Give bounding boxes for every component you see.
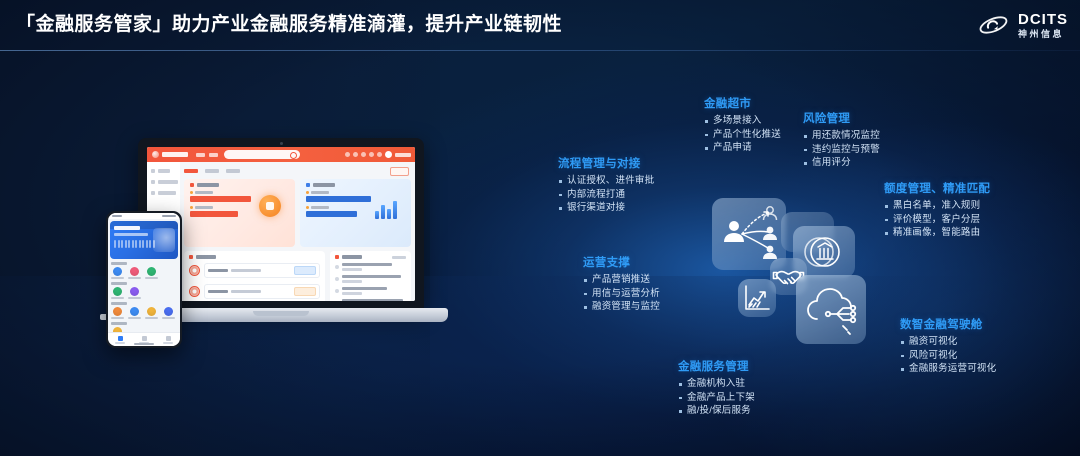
list-item[interactable]: [335, 299, 406, 301]
list-item[interactable]: [335, 263, 406, 271]
app-icon[interactable]: [128, 287, 141, 299]
block-flow: 流程管理与对接 认证授权、进件审批 内部流程打通 银行渠道对接: [558, 155, 654, 215]
list-item: 用信与运营分析: [583, 287, 660, 301]
list-item: 金融产品上下架: [678, 391, 755, 405]
phone-icon-row[interactable]: [111, 287, 177, 299]
step-node-icon: [189, 265, 200, 276]
sidebar-item[interactable]: [151, 180, 180, 184]
list-item: 多场景接入: [704, 114, 781, 128]
list-item: 融资管理与监控: [583, 300, 660, 314]
step-card[interactable]: [204, 263, 320, 278]
stat-card-financing: [184, 179, 295, 247]
sidebar-item-icon: [151, 180, 155, 184]
block-list: 多场景接入 产品个性化推送 产品申请: [704, 114, 781, 155]
kpi-value: [306, 196, 371, 202]
stat-card-title: [306, 183, 405, 187]
list-item: 精准画像，智能路由: [884, 226, 990, 240]
news-panel: [330, 251, 411, 301]
phone-icon-group: [111, 302, 177, 319]
block-title: 金融服务管理: [678, 358, 755, 374]
table-row[interactable]: [189, 284, 320, 299]
sidebar-item-label: [158, 180, 178, 184]
sidebar-item-label: [158, 191, 176, 195]
app-icon[interactable]: [162, 307, 175, 319]
block-market: 金融超市 多场景接入 产品个性化推送 产品申请: [704, 95, 781, 155]
dashboard-topbar: [147, 147, 415, 162]
growth-chart-icon: [738, 279, 776, 317]
step-node-icon: [189, 286, 200, 297]
phone-icon-group: [111, 282, 177, 299]
laptop-camera-icon: [280, 142, 283, 145]
dashboard-brand-icon: [152, 151, 159, 158]
kpi-value: [190, 211, 238, 217]
sidebar-item[interactable]: [151, 169, 180, 173]
sidebar-item-label: [158, 169, 170, 173]
block-list: 用还款情况监控 违约监控与预警 信用评分: [803, 129, 880, 170]
avatar[interactable]: [385, 151, 392, 158]
tab-overview[interactable]: [184, 169, 198, 173]
tab-third[interactable]: [226, 169, 240, 173]
kpi-label: [306, 191, 405, 194]
phone-banner: [110, 221, 178, 259]
list-item: 风险可视化: [900, 349, 996, 363]
bullet-icon: [335, 277, 339, 281]
laptop-notch: [253, 311, 309, 316]
medal-badge-icon: [259, 195, 281, 217]
list-item[interactable]: [335, 275, 406, 283]
kpi-value: [306, 211, 357, 217]
block-title: 风险管理: [803, 110, 880, 126]
stat-card-icon: [306, 183, 310, 187]
nav-item-home[interactable]: [115, 336, 125, 344]
dashboard-menu-item[interactable]: [196, 153, 205, 157]
block-cockpit: 数智金融驾驶舱 融资可视化 风险可视化 金融服务运营可视化: [900, 316, 996, 376]
bullet-icon: [335, 265, 339, 269]
block-ops: 运营支撑 产品营销推送 用信与运营分析 融资管理与监控: [583, 254, 660, 314]
list-item: 产品营销推送: [583, 273, 660, 287]
list-item: 评价模型，客户分层: [884, 213, 990, 227]
panel-icon: [335, 255, 339, 259]
phone-banner-bars: [114, 240, 155, 248]
app-icon[interactable]: [128, 307, 141, 319]
block-title: 金融超市: [704, 95, 781, 111]
bell-icon[interactable]: [345, 152, 350, 157]
phone-icon-group: [111, 262, 177, 279]
phone-home-indicator: [134, 343, 154, 345]
stat-card-icon: [190, 183, 194, 187]
process-panel: [184, 251, 325, 301]
block-title: 额度管理、精准匹配: [884, 180, 990, 196]
block-title: 流程管理与对接: [558, 155, 654, 171]
view-more-link[interactable]: [392, 256, 406, 259]
dashboard-brand-text: [162, 152, 188, 157]
panel-header: [335, 255, 406, 259]
help-icon[interactable]: [353, 152, 358, 157]
list-item: 融资可视化: [900, 335, 996, 349]
dashboard-main: [180, 162, 415, 301]
list-item: 认证授权、进件审批: [558, 174, 654, 188]
panel-title: [196, 255, 216, 259]
block-list: 融资可视化 风险可视化 金融服务运营可视化: [900, 335, 996, 376]
bullet-icon: [335, 289, 339, 293]
logo-cn: 神州信息: [1018, 30, 1068, 39]
list-item: 信用评分: [803, 156, 880, 170]
block-risk: 风险管理 用还款情况监控 违约监控与预警 信用评分: [803, 110, 880, 170]
list-item: 融/投/保后服务: [678, 404, 755, 418]
phone-group-label: [111, 302, 127, 305]
app-icon[interactable]: [111, 307, 124, 319]
stat-card-credit: [300, 179, 411, 247]
tile-cloud-tech: [796, 275, 866, 344]
phone-group-label: [111, 282, 127, 285]
table-row[interactable]: [189, 263, 320, 278]
message-icon[interactable]: [377, 152, 382, 157]
phone-status-bar: [108, 213, 180, 219]
brand-logo: DCITS 神州信息: [978, 8, 1068, 42]
cloud-tech-icon: [796, 275, 866, 344]
panel-icon: [189, 255, 193, 259]
panel-header: [189, 255, 320, 259]
phone-app-mockup: [106, 211, 182, 348]
dashboard-search-input[interactable]: [224, 150, 300, 159]
tab-second[interactable]: [205, 169, 219, 173]
sidebar-item-icon: [151, 169, 155, 173]
capability-icon-cluster: [700, 196, 870, 356]
kpi-value: [190, 196, 251, 202]
status-badge: [294, 287, 316, 296]
slide-canvas: 「金融服务管家」助力产业金融服务精准滴灌，提升产业链韧性 DCITS 神州信息: [0, 0, 1080, 456]
block-list: 金融机构入驻 金融产品上下架 融/投/保后服务: [678, 377, 755, 418]
username-label: [395, 153, 411, 157]
list-item: 金融机构入驻: [678, 377, 755, 391]
block-list: 黑白名单，准入规则 评价模型，客户分层 精准画像，智能路由: [884, 199, 990, 240]
list-item: 用还款情况监控: [803, 129, 880, 143]
block-title: 运营支撑: [583, 254, 660, 270]
phone-icon-row[interactable]: [111, 307, 177, 319]
panels-row: [184, 251, 411, 301]
clock-label: [112, 215, 122, 217]
dashboard-menu-item[interactable]: [209, 153, 218, 157]
phone-banner-subtitle: [114, 233, 148, 236]
list-item: 银行渠道对接: [558, 201, 654, 215]
phone-group-label: [111, 322, 127, 325]
kpi-label: [190, 191, 289, 194]
phone-banner-title: [114, 226, 140, 230]
device-mockups: [106, 138, 446, 348]
phone-banner-illustration: [153, 228, 175, 252]
sidebar-item[interactable]: [151, 191, 180, 195]
logo-text: DCITS 神州信息: [1018, 12, 1068, 39]
block-list: 产品营销推送 用信与运营分析 融资管理与监控: [583, 273, 660, 314]
bar-chart-icon: [375, 197, 401, 219]
status-badge: [294, 266, 316, 275]
block-financial-service-management: 金融服务管理 金融机构入驻 金融产品上下架 融/投/保后服务: [678, 358, 755, 418]
stat-card-title: [190, 183, 289, 187]
header-divider: [0, 50, 1080, 51]
grid-icon[interactable]: [361, 152, 366, 157]
block-list: 认证授权、进件审批 内部流程打通 银行渠道对接: [558, 174, 654, 215]
list-item[interactable]: [335, 287, 406, 295]
primary-action-button[interactable]: [390, 167, 409, 176]
app-icon[interactable]: [128, 267, 141, 279]
dashboard-menu[interactable]: [196, 153, 218, 157]
dashboard-brand: [152, 151, 188, 158]
list-item: 金融服务运营可视化: [900, 362, 996, 376]
settings-icon[interactable]: [369, 152, 374, 157]
tile-growth-chart: [738, 279, 776, 317]
laptop-screen: [147, 147, 415, 301]
stat-cards-row: [184, 179, 411, 247]
phone-group-label: [111, 262, 127, 265]
list-item: 违约监控与预警: [803, 143, 880, 157]
dashboard-tabs[interactable]: [184, 166, 411, 176]
page-title: 「金融服务管家」助力产业金融服务精准滴灌，提升产业链韧性: [16, 9, 562, 36]
list-item: 内部流程打通: [558, 188, 654, 202]
nav-item-profile[interactable]: [163, 336, 173, 344]
step-card[interactable]: [204, 284, 320, 299]
block-quota: 额度管理、精准匹配 黑白名单，准入规则 评价模型，客户分层 精准画像，智能路由: [884, 180, 990, 240]
dashboard-topbar-actions[interactable]: [345, 151, 411, 158]
logo-en: DCITS: [1018, 12, 1068, 27]
list-item: 黑白名单，准入规则: [884, 199, 990, 213]
app-icon[interactable]: [145, 307, 158, 319]
list-item: 产品个性化推送: [704, 128, 781, 142]
phone-screen: [108, 213, 180, 346]
block-title: 数智金融驾驶舱: [900, 316, 996, 332]
app-icon[interactable]: [111, 267, 124, 279]
swoosh-galaxy-icon: [978, 12, 1012, 38]
list-item: 产品申请: [704, 141, 781, 155]
phone-icon-row[interactable]: [111, 267, 177, 279]
app-icon[interactable]: [145, 267, 158, 279]
signal-icon: [162, 215, 176, 217]
panel-title: [342, 255, 362, 259]
stat-card-label: [197, 183, 219, 187]
app-icon[interactable]: [111, 287, 124, 299]
dashboard-ui: [147, 147, 415, 301]
sidebar-item-icon: [151, 191, 155, 195]
slide-header: 「金融服务管家」助力产业金融服务精准滴灌，提升产业链韧性 DCITS 神州信息: [0, 0, 1080, 50]
stat-card-label: [313, 183, 335, 187]
